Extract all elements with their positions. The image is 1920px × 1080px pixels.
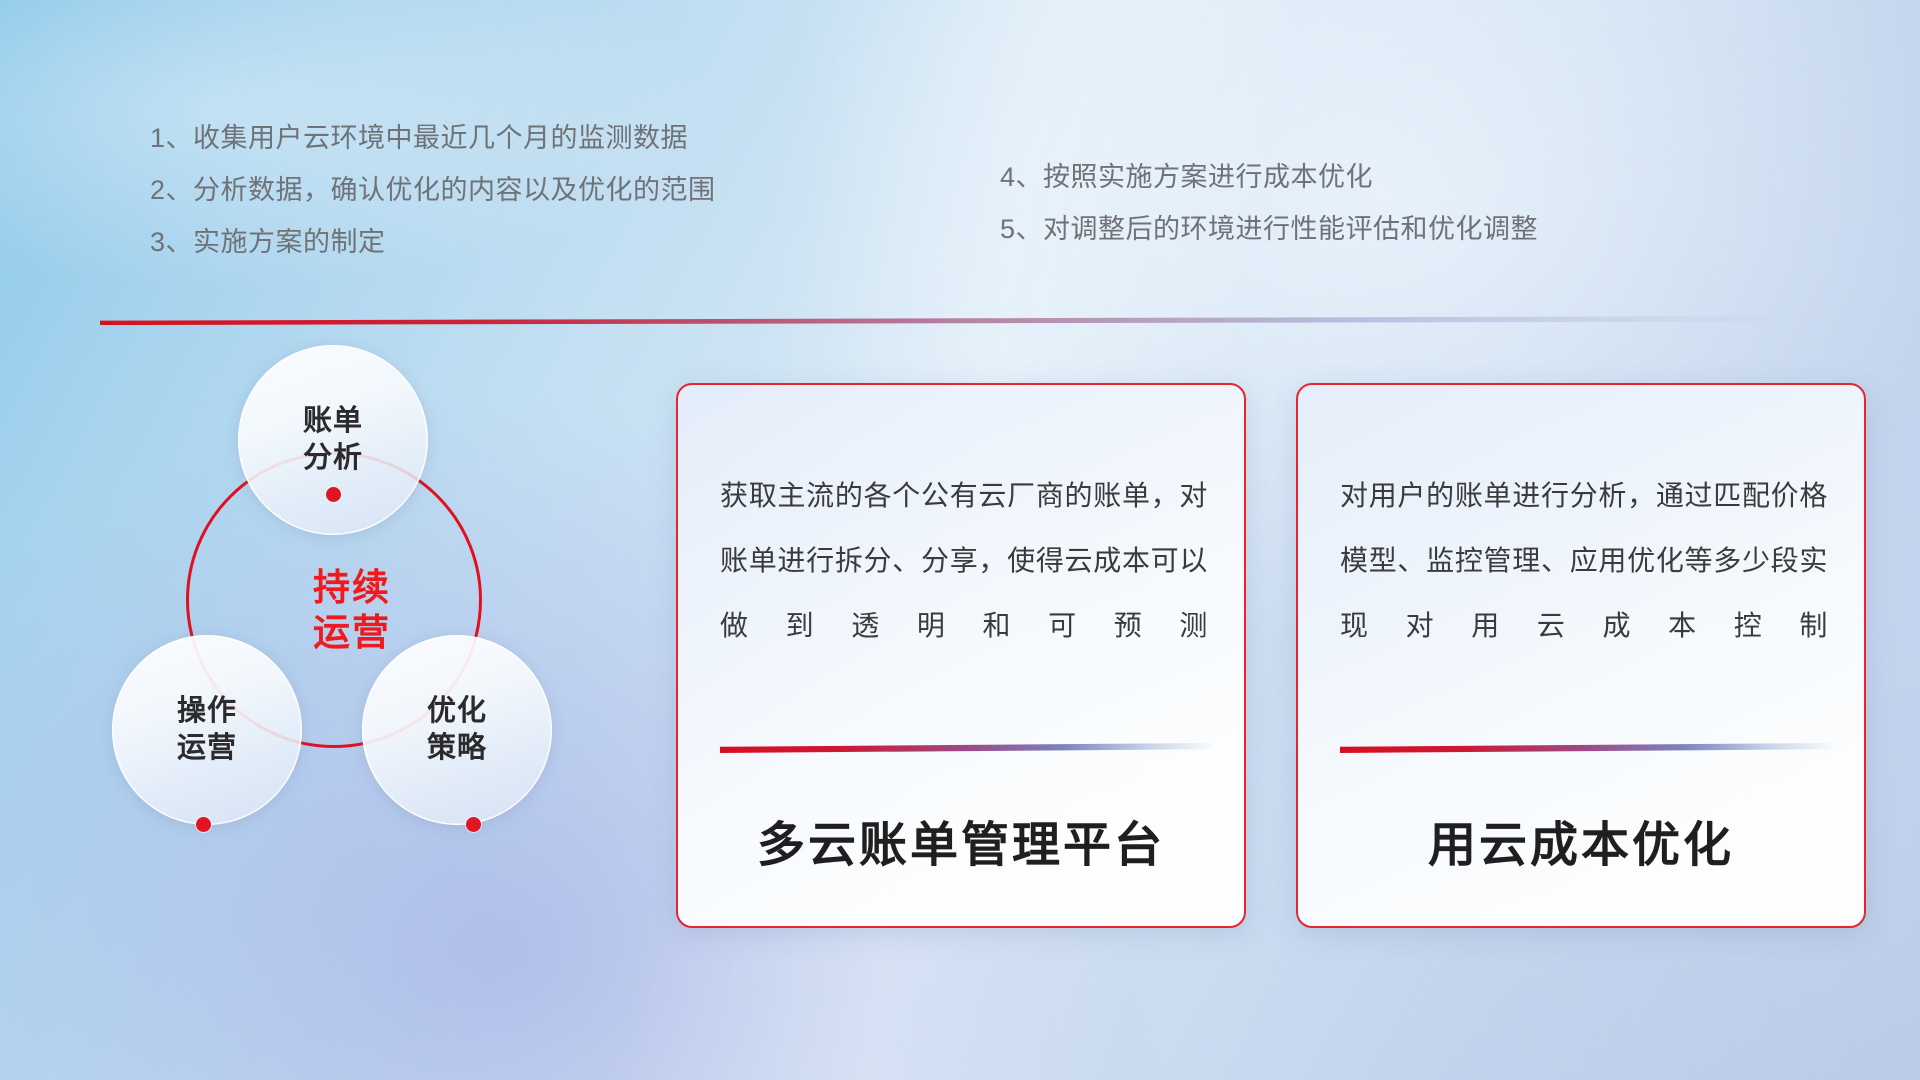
process-steps-left-column: 1、收集用户云环境中最近几个月的监测数据 2、分析数据，确认优化的内容以及优化的… <box>150 112 716 268</box>
venn-node-dot-bottom-left-icon <box>196 817 211 832</box>
feature-card-divider <box>1340 743 1832 753</box>
venn-center-label-line2: 运营 <box>313 612 391 653</box>
feature-card-title: 多云账单管理平台 <box>678 805 1244 875</box>
feature-cards: 获取主流的各个公有云厂商的账单，对账单进行拆分、分享，使得云成本可以做到透明和可… <box>676 383 1866 943</box>
feature-card-body: 获取主流的各个公有云厂商的账单，对账单进行拆分、分享，使得云成本可以做到透明和可… <box>720 463 1208 658</box>
venn-bubble-label-line1: 账单 <box>303 405 363 437</box>
slide-canvas: 1、收集用户云环境中最近几个月的监测数据 2、分析数据，确认优化的内容以及优化的… <box>0 0 1920 1080</box>
process-steps-section: 1、收集用户云环境中最近几个月的监测数据 2、分析数据，确认优化的内容以及优化的… <box>0 96 1920 296</box>
process-step-item: 4、按照实施方案进行成本优化 <box>1000 151 1538 203</box>
venn-node-dot-bottom-right-icon <box>466 817 481 832</box>
process-step-item: 3、实施方案的制定 <box>150 216 716 268</box>
feature-card-cloud-cost-optimization[interactable]: 对用户的账单进行分析，通过匹配价格模型、监控管理、应用优化等多少段实现对用云成本… <box>1296 383 1866 928</box>
process-step-item: 1、收集用户云环境中最近几个月的监测数据 <box>150 112 716 164</box>
feature-card-body: 对用户的账单进行分析，通过匹配价格模型、监控管理、应用优化等多少段实现对用云成本… <box>1340 463 1828 658</box>
venn-center-label: 持续 运营 <box>313 565 391 655</box>
venn-node-dot-top-icon <box>326 487 341 502</box>
venn-diagram: 操作 运营 优化 策略 账单 分析 持续 运营 <box>90 345 590 945</box>
feature-card-title: 用云成本优化 <box>1298 805 1864 875</box>
process-steps-right-column: 4、按照实施方案进行成本优化 5、对调整后的环境进行性能评估和优化调整 <box>1000 151 1538 255</box>
header-divider-line <box>100 316 1800 325</box>
feature-card-divider <box>720 743 1212 753</box>
process-step-item: 2、分析数据，确认优化的内容以及优化的范围 <box>150 164 716 216</box>
process-step-item: 5、对调整后的环境进行性能评估和优化调整 <box>1000 203 1538 255</box>
venn-center-label-line1: 持续 <box>313 567 391 608</box>
feature-card-multicloud-billing[interactable]: 获取主流的各个公有云厂商的账单，对账单进行拆分、分享，使得云成本可以做到透明和可… <box>676 383 1246 928</box>
